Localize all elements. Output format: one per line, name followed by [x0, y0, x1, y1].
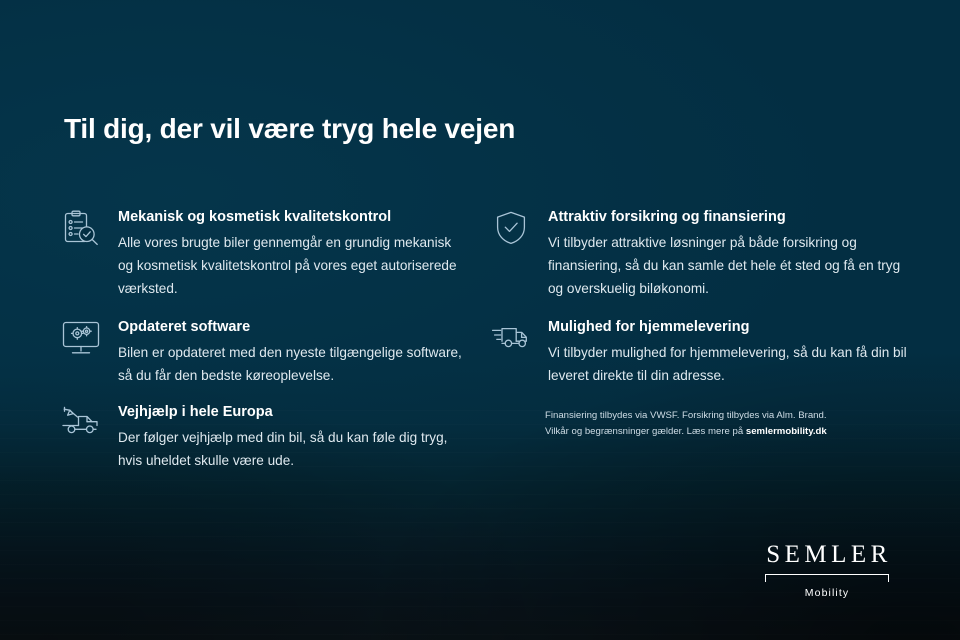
feature-text: Alle vores brugte biler gennemgår en gru…: [118, 231, 470, 301]
monitor-gears-icon: [60, 318, 102, 358]
feature-body: Attraktiv forsikring og finansiering Vi …: [548, 208, 910, 301]
feature-text: Vi tilbyder mulighed for hjemmelevering,…: [548, 341, 910, 388]
logo-tagline: Mobility: [752, 588, 902, 599]
page-title: Til dig, der vil være tryg hele vejen: [64, 113, 515, 145]
shield-check-icon: [490, 208, 532, 248]
feature-title: Mekanisk og kosmetisk kvalitetskontrol: [118, 208, 470, 228]
feature-body: Mekanisk og kosmetisk kvalitetskontrol A…: [118, 208, 470, 301]
feature-body: Opdateret software Bilen er opdateret me…: [118, 318, 470, 387]
feature-item-quality-control: Mekanisk og kosmetisk kvalitetskontrol A…: [60, 208, 470, 301]
feature-body: Vejhjælp i hele Europa Der følger vejhjæ…: [118, 403, 470, 472]
semler-mobility-logo: SEMLER Mobility: [752, 542, 902, 599]
feature-text: Bilen er opdateret med den nyeste tilgæn…: [118, 341, 470, 388]
slide-content: Til dig, der vil være tryg hele vejen: [0, 0, 960, 640]
logo-wordmark: SEMLER: [752, 542, 902, 567]
feature-text: Vi tilbyder attraktive løsninger på både…: [548, 231, 910, 301]
feature-title: Mulighed for hjemmelevering: [548, 318, 910, 338]
fineprint-line-1: Finansiering tilbydes via VWSF. Forsikri…: [545, 408, 885, 424]
feature-body: Mulighed for hjemmelevering Vi tilbyder …: [548, 318, 910, 387]
feature-item-updated-software: Opdateret software Bilen er opdateret me…: [60, 318, 470, 387]
feature-item-home-delivery: Mulighed for hjemmelevering Vi tilbyder …: [490, 318, 910, 387]
fineprint-line-2-text: Vilkår og begrænsninger gælder. Læs mere…: [545, 426, 746, 437]
clipboard-magnifier-icon: [60, 208, 102, 248]
fineprint-link[interactable]: semlermobility.dk: [746, 426, 827, 437]
feature-item-roadside-assistance: Vejhjælp i hele Europa Der følger vejhjæ…: [60, 403, 470, 472]
fineprint-disclaimer: Finansiering tilbydes via VWSF. Forsikri…: [545, 408, 885, 439]
feature-item-insurance-financing: Attraktiv forsikring og finansiering Vi …: [490, 208, 910, 301]
logo-divider-rule: [765, 574, 889, 583]
feature-title: Opdateret software: [118, 318, 470, 338]
fineprint-line-2: Vilkår og begrænsninger gælder. Læs mere…: [545, 424, 885, 440]
feature-text: Der følger vejhjælp med din bil, så du k…: [118, 426, 470, 473]
tow-truck-icon: [60, 403, 102, 443]
delivery-truck-icon: [490, 318, 532, 358]
feature-title: Attraktiv forsikring og finansiering: [548, 208, 910, 228]
feature-title: Vejhjælp i hele Europa: [118, 403, 470, 423]
